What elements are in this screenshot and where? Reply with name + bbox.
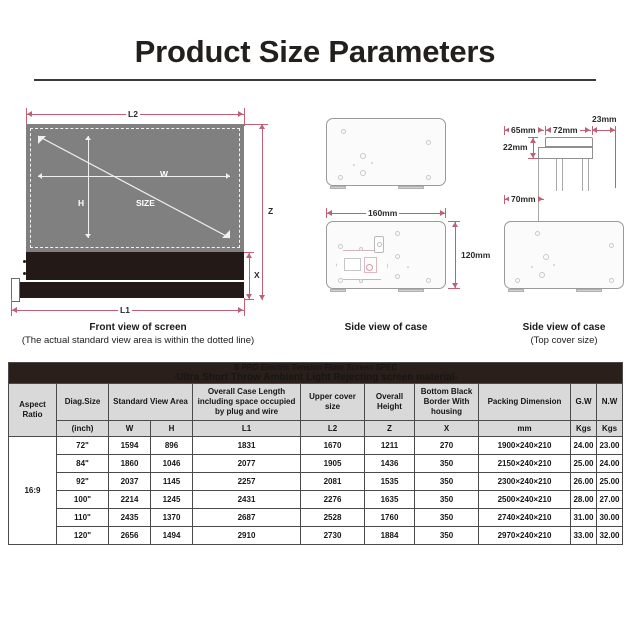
cell-l1: 2257 — [193, 473, 301, 491]
control-panel-display[interactable] — [344, 258, 361, 271]
cell-h: 896 — [151, 437, 193, 455]
cover-leg — [582, 159, 583, 191]
x-arrow-down — [246, 294, 252, 299]
spec-table: S PRO Electric Tension Floor Screen SPEC… — [8, 362, 623, 545]
case-height-dimension-line — [455, 221, 456, 289]
screw-hole-icon — [426, 278, 431, 283]
d65-arrow-right — [538, 127, 543, 133]
header-standard-view-area: Standard View Area — [109, 384, 193, 421]
case-width-label: 160mm — [366, 208, 399, 218]
unit-packing: mm — [479, 421, 571, 437]
cell-x: 350 — [415, 491, 479, 509]
cell-w: 1860 — [109, 455, 151, 473]
cell-l2: 1905 — [301, 455, 365, 473]
header-bottom-black-border: Bottom Black Border With housing — [415, 384, 479, 421]
bottom-black-border-bar — [26, 252, 244, 280]
screw-dot — [23, 260, 26, 263]
cell-l2: 2730 — [301, 527, 365, 545]
x-tick-bottom — [244, 299, 254, 300]
screw-hole-icon — [609, 278, 614, 283]
screw-hole-icon — [338, 175, 343, 180]
unit-l2: L2 — [301, 421, 365, 437]
cell-diag-size: 92" — [57, 473, 109, 491]
cell-x: 270 — [415, 437, 479, 455]
unit-nw: Kgs — [597, 421, 623, 437]
l1-arrow-left — [12, 307, 17, 313]
cell-l1: 2077 — [193, 455, 301, 473]
w-arrow-left — [38, 173, 42, 179]
cell-diag-size: 120" — [57, 527, 109, 545]
header-gw: G.W — [571, 384, 597, 421]
cell-l2: 1670 — [301, 437, 365, 455]
case-foot — [398, 186, 424, 189]
cell-diag-size: 84" — [57, 455, 109, 473]
table-header-row: Aspect Ratio Diag.Size Standard View Are… — [9, 384, 623, 421]
screw-hole-icon — [535, 231, 540, 236]
case-bottom-box — [326, 221, 446, 289]
cell-aspect-ratio: 16:9 — [9, 437, 57, 545]
screw-hole-icon — [395, 231, 400, 236]
case-width-arrow-right — [440, 210, 445, 216]
d70-arrow-right — [538, 196, 543, 202]
cell-diag-size: 72" — [57, 437, 109, 455]
switch-indicator-icon — [377, 242, 382, 247]
d72-label: 72mm — [551, 125, 580, 135]
l1-tick-right — [244, 298, 245, 316]
cell-nw: 23.00 — [597, 437, 623, 455]
case-foot — [576, 289, 602, 292]
control-knob-icon[interactable] — [366, 264, 373, 271]
cell-z: 1760 — [365, 509, 415, 527]
front-view-caption-main: Front view of screen — [89, 322, 186, 333]
unit-l1: L1 — [193, 421, 301, 437]
table-row: 92"203711452257208115353502300×240×21026… — [9, 473, 623, 491]
cell-z: 1635 — [365, 491, 415, 509]
d22-arrow-down — [530, 153, 536, 158]
cell-w: 2037 — [109, 473, 151, 491]
case-base-bar — [16, 282, 244, 298]
title-block: Product Size Parameters — [0, 34, 630, 70]
marker-dot — [407, 266, 409, 268]
marker-dot — [531, 266, 533, 268]
h-arrow-down — [85, 234, 91, 238]
screw-hole-icon — [359, 279, 363, 283]
cell-w: 2214 — [109, 491, 151, 509]
header-overall-height: Overall Height — [365, 384, 415, 421]
cell-z: 1436 — [365, 455, 415, 473]
l2-label: L2 — [126, 109, 140, 119]
table-banner-row: S PRO Electric Tension Floor Screen SPEC… — [9, 363, 623, 384]
side-view-top-cover-caption: Side view of case (Top cover size) — [504, 321, 624, 347]
case-foot — [330, 186, 346, 189]
d22-arrow-up — [530, 138, 536, 143]
unit-gw: Kgs — [571, 421, 597, 437]
cell-h: 1145 — [151, 473, 193, 491]
table-unit-row: (inch) W H L1 L2 Z X mm Kgs Kgs — [9, 421, 623, 437]
cell-l2: 2276 — [301, 491, 365, 509]
case-width-tick-right — [445, 208, 446, 218]
unit-x: X — [415, 421, 479, 437]
cell-packing-dimension: 2970×240×210 — [479, 527, 571, 545]
cell-packing-dimension: 2300×240×210 — [479, 473, 571, 491]
header-aspect-ratio: Aspect Ratio — [9, 384, 57, 437]
screw-hole-icon — [359, 247, 363, 251]
cover-leg — [556, 159, 557, 191]
cell-x: 350 — [415, 473, 479, 491]
x-arrow-up — [246, 253, 252, 258]
screw-hole-icon — [338, 278, 343, 283]
screw-hole-icon — [395, 274, 400, 279]
spec-table-body: 16:972"15948961831167012112701900×240×21… — [9, 437, 623, 545]
cell-gw: 24.00 — [571, 437, 597, 455]
marker-dot — [353, 164, 355, 166]
l2-arrow-left — [27, 111, 32, 117]
screw-hole-icon — [426, 140, 431, 145]
unit-w: W — [109, 421, 151, 437]
cell-h: 1245 — [151, 491, 193, 509]
d22-label: 22mm — [501, 142, 530, 152]
case-left-end-cap — [11, 278, 20, 302]
screw-hole-icon — [360, 170, 366, 176]
w-measure-line — [38, 176, 230, 177]
d23-arrow-right — [610, 127, 615, 133]
screw-hole-icon — [515, 278, 520, 283]
h-arrow-up — [85, 136, 91, 140]
cell-l1: 2687 — [193, 509, 301, 527]
cell-gw: 33.00 — [571, 527, 597, 545]
case-height-label: 120mm — [459, 250, 492, 260]
top-cover-upper-profile — [545, 137, 593, 147]
l1-arrow-right — [238, 307, 243, 313]
screw-dot — [240, 272, 243, 275]
case-height-tick-bottom — [448, 288, 460, 289]
cell-gw: 28.00 — [571, 491, 597, 509]
header-overall-case-length: Overall Case Length including space occu… — [193, 384, 301, 421]
screw-hole-icon — [360, 153, 366, 159]
table-row: 110"243513702687252817603502740×240×2103… — [9, 509, 623, 527]
front-view-diagram: L2 SIZE W H — [0, 100, 300, 358]
table-row: 16:972"15948961831167012112701900×240×21… — [9, 437, 623, 455]
cell-w: 2656 — [109, 527, 151, 545]
cell-w: 1594 — [109, 437, 151, 455]
cell-h: 1370 — [151, 509, 193, 527]
d65-label: 65mm — [509, 125, 538, 135]
cell-gw: 31.00 — [571, 509, 597, 527]
cell-nw: 30.00 — [597, 509, 623, 527]
unit-z: Z — [365, 421, 415, 437]
cell-l1: 1831 — [193, 437, 301, 455]
title-divider — [34, 79, 596, 81]
cover-edge-line — [538, 159, 539, 221]
cell-diag-size: 110" — [57, 509, 109, 527]
header-upper-cover-size: Upper cover size — [301, 384, 365, 421]
side-view-top-cover-caption-main: Side view of case — [523, 322, 606, 333]
d22-tick-bottom — [528, 158, 538, 159]
cell-nw: 32.00 — [597, 527, 623, 545]
cell-packing-dimension: 2150×240×210 — [479, 455, 571, 473]
screw-hole-icon — [395, 254, 400, 259]
h-measure-line — [88, 136, 89, 238]
screw-hole-icon — [341, 129, 346, 134]
cell-x: 350 — [415, 527, 479, 545]
case-width-arrow-left — [327, 210, 332, 216]
z-arrow-down — [259, 295, 265, 300]
case-top-box — [326, 118, 446, 186]
d23-label: 23mm — [590, 114, 619, 124]
front-view-caption: Front view of screen (The actual standar… — [0, 321, 276, 347]
x-dimension-line — [249, 252, 250, 300]
cell-h: 1046 — [151, 455, 193, 473]
d23-arrow-left — [592, 127, 597, 133]
cell-packing-dimension: 2740×240×210 — [479, 509, 571, 527]
front-view-caption-sub: (The actual standard view area is within… — [0, 334, 276, 347]
side-view-top-cover-caption-sub: (Top cover size) — [504, 334, 624, 347]
page-title: Product Size Parameters — [0, 34, 630, 70]
cell-packing-dimension: 2500×240×210 — [479, 491, 571, 509]
side-view-case-caption: Side view of case — [326, 321, 446, 334]
banner-line-2: -Ultra Short Throw Ambient Light Rejecti… — [9, 373, 622, 383]
screw-hole-icon — [609, 243, 614, 248]
d70-label: 70mm — [509, 194, 538, 204]
cell-l1: 2431 — [193, 491, 301, 509]
z-dimension-line — [262, 124, 263, 300]
marker-dot — [371, 162, 373, 164]
cell-l2: 2528 — [301, 509, 365, 527]
screw-hole-icon — [539, 272, 545, 278]
z-arrow-up — [259, 124, 265, 129]
cell-z: 1211 — [365, 437, 415, 455]
cell-z: 1535 — [365, 473, 415, 491]
size-label: SIZE — [136, 198, 155, 208]
cell-h: 1494 — [151, 527, 193, 545]
screw-dot — [23, 272, 26, 275]
cell-nw: 27.00 — [597, 491, 623, 509]
case-height-arrow-down — [452, 283, 458, 288]
screw-hole-icon — [338, 244, 343, 249]
h-label: H — [78, 198, 84, 208]
l2-arrow-right — [238, 111, 243, 117]
table-row: 84"186010462077190514363502150×240×21025… — [9, 455, 623, 473]
table-banner-cell: S PRO Electric Tension Floor Screen SPEC… — [9, 363, 623, 384]
cell-w: 2435 — [109, 509, 151, 527]
cover-leg — [588, 159, 589, 191]
d23-tick-right — [615, 126, 616, 188]
case-foot — [508, 289, 524, 292]
header-packing-dimension: Packing Dimension — [479, 384, 571, 421]
marker-dot — [553, 264, 555, 266]
diagram-area: L2 SIZE W H — [0, 100, 630, 358]
screen-surface: SIZE W H — [26, 124, 244, 252]
w-label: W — [160, 169, 168, 179]
case-height-arrow-up — [452, 222, 458, 227]
top-cover-lower-profile — [538, 147, 593, 159]
screw-hole-icon — [426, 175, 431, 180]
unit-h: H — [151, 421, 193, 437]
side-view-case-caption-main: Side view of case — [345, 322, 428, 333]
top-cover-case-box — [504, 221, 624, 289]
cell-gw: 26.00 — [571, 473, 597, 491]
cover-leg — [562, 159, 563, 191]
x-label: X — [252, 270, 262, 280]
cell-diag-size: 100" — [57, 491, 109, 509]
cell-l1: 2910 — [193, 527, 301, 545]
cell-x: 350 — [415, 455, 479, 473]
cell-l2: 2081 — [301, 473, 365, 491]
cell-x: 350 — [415, 509, 479, 527]
case-foot — [330, 289, 346, 292]
diagonal-size-arrow — [26, 124, 244, 252]
screw-hole-icon — [543, 254, 549, 260]
case-foot — [398, 289, 424, 292]
cell-nw: 24.00 — [597, 455, 623, 473]
unit-diag-size: (inch) — [57, 421, 109, 437]
table-row: 120"265614942910273018843502970×240×2103… — [9, 527, 623, 545]
cell-gw: 25.00 — [571, 455, 597, 473]
screw-dot — [240, 260, 243, 263]
z-label: Z — [266, 206, 275, 216]
d72-arrow-right — [585, 127, 590, 133]
l1-label: L1 — [118, 305, 132, 315]
table-row: 100"221412452431227616353502500×240×2102… — [9, 491, 623, 509]
header-diag-size: Diag.Size — [57, 384, 109, 421]
cell-z: 1884 — [365, 527, 415, 545]
w-arrow-right — [226, 173, 230, 179]
header-nw: N.W — [597, 384, 623, 421]
cell-nw: 25.00 — [597, 473, 623, 491]
cell-packing-dimension: 1900×240×210 — [479, 437, 571, 455]
